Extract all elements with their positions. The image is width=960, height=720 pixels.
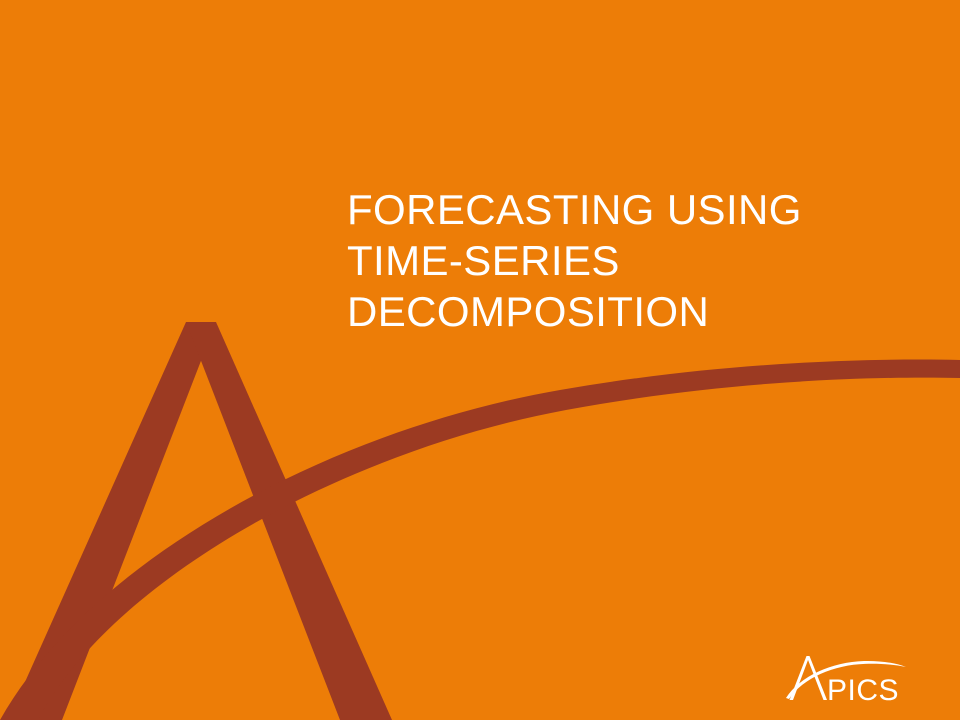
title-line-3: DECOMPOSITION <box>347 286 907 337</box>
title-slide: FORECASTING USING TIME-SERIES DECOMPOSIT… <box>0 0 960 720</box>
apics-logo-wordmark: PICS <box>827 674 899 707</box>
background-apics-a-mark <box>0 0 960 720</box>
a-mark-right-leg <box>186 322 392 720</box>
title-line-2: TIME-SERIES <box>347 235 907 286</box>
apics-logo: PICS <box>782 648 918 710</box>
a-mark-left-leg <box>8 322 216 720</box>
title-line-1: FORECASTING USING <box>347 184 907 235</box>
page-title: FORECASTING USING TIME-SERIES DECOMPOSIT… <box>347 184 907 337</box>
